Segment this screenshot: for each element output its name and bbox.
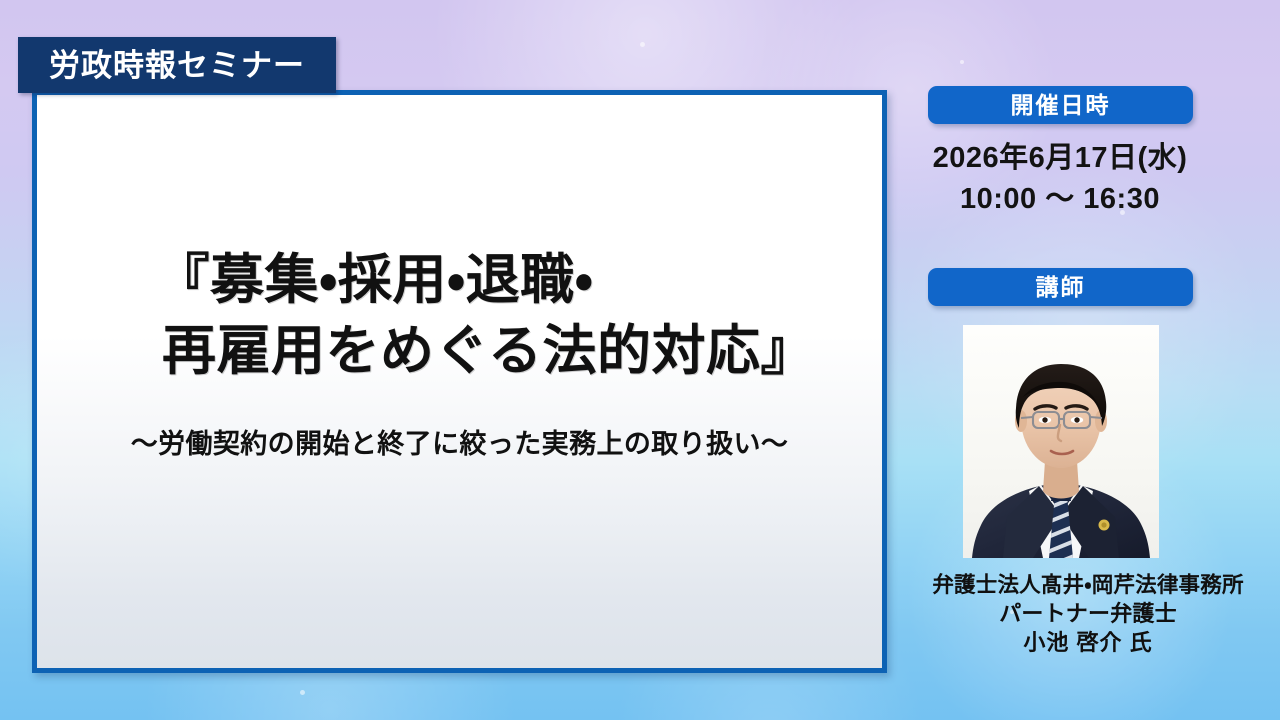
seminar-brand-ribbon: 労政時報セミナー [18,37,336,93]
lecturer-name: 小池 啓介 氏 [888,629,1280,658]
schedule-heading-pill: 開催日時 [928,86,1193,124]
portrait-illustration [963,325,1159,558]
ribbon-label: 労政時報セミナー [49,50,305,81]
schedule-heading-label: 開催日時 [1011,94,1111,117]
schedule-date: 2026年6月17日(水) [900,138,1220,179]
pupil-left [1042,417,1047,422]
seminar-title-line-2: 再雇用をめぐる法的対応』 [37,316,882,387]
lecturer-heading-pill: 講師 [928,268,1193,306]
title-panel: 『募集・採用・退職・ 再雇用をめぐる法的対応』 〜労働契約の開始と終了に絞った実… [32,90,887,673]
schedule-details: 2026年6月17日(水) 10:00 〜 16:30 [900,138,1220,220]
lecturer-role: パートナー弁護士 [888,600,1280,629]
sparkle-dot [300,690,305,695]
lapel-pin-center [1101,522,1106,527]
title-block: 『募集・採用・退職・ 再雇用をめぐる法的対応』 〜労働契約の開始と終了に絞った実… [37,245,882,461]
lecturer-affiliation: 弁護士法人髙井・岡芹法律事務所 [888,572,1280,600]
seminar-flyer: 労政時報セミナー 『募集・採用・退職・ 再雇用をめぐる法的対応』 〜労働契約の開… [0,0,1280,720]
seminar-title-line-1: 『募集・採用・退職・ [37,245,882,316]
schedule-time: 10:00 〜 16:30 [900,179,1220,220]
lecturer-portrait-photo [963,325,1159,558]
pupil-right [1074,417,1079,422]
sparkle-dot [640,42,645,47]
lecturer-credit: 弁護士法人髙井・岡芹法律事務所 パートナー弁護士 小池 啓介 氏 [888,572,1280,657]
seminar-subtitle: 〜労働契約の開始と終了に絞った実務上の取り扱い〜 [37,422,882,461]
lecturer-heading-label: 講師 [1036,276,1086,299]
info-rail: 開催日時 2026年6月17日(水) 10:00 〜 16:30 講師 [900,0,1280,720]
